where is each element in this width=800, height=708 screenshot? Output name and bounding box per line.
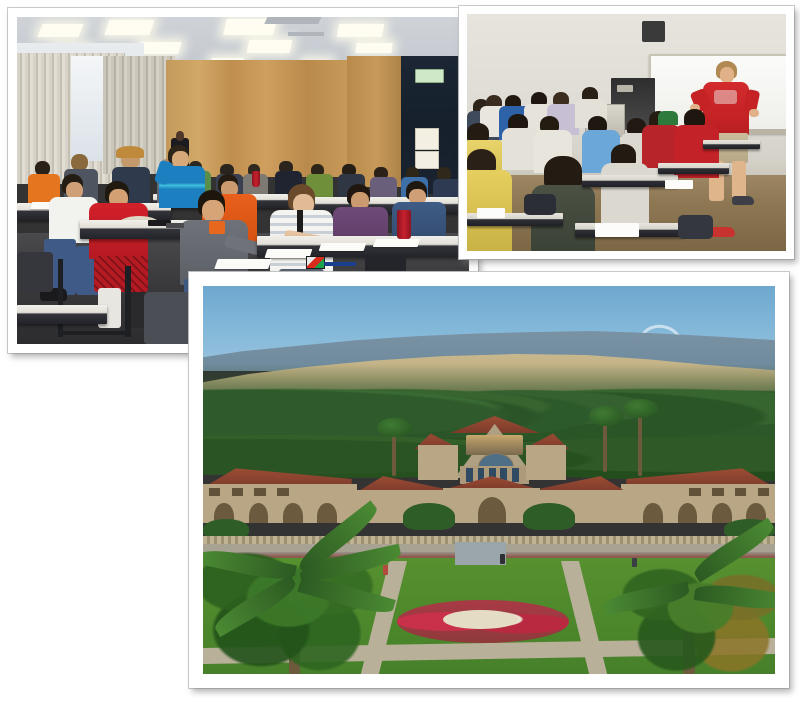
- reflecting-pool: [455, 542, 506, 565]
- photo-stanford-quad[interactable]: Stanford University Main Quad with Memor…: [189, 272, 789, 688]
- palm-trunk: [638, 414, 642, 476]
- flower-bed-centre: [443, 610, 517, 629]
- wing-window: [209, 488, 220, 497]
- notebook: [477, 208, 506, 217]
- ceiling-light: [37, 24, 83, 37]
- wing-window: [232, 488, 243, 497]
- wing-window: [758, 488, 769, 497]
- pedestrian: [500, 554, 505, 564]
- table: [17, 305, 107, 325]
- church-mosaic: [466, 435, 523, 454]
- standing-proctor-head: [176, 131, 184, 141]
- test-paper: [373, 239, 421, 247]
- teacher-hand: [749, 109, 759, 117]
- stanford-quad-scene: [203, 286, 775, 674]
- pedestrian: [383, 565, 388, 574]
- palm-crown: [589, 406, 623, 425]
- teacher-leg: [732, 161, 747, 199]
- student-head: [684, 109, 705, 127]
- exit-sign: [415, 69, 444, 82]
- wing-window: [712, 488, 723, 497]
- wall-poster: [415, 128, 440, 150]
- shrub: [523, 503, 574, 530]
- water-bottle: [397, 210, 411, 239]
- ceiling-beam: [264, 17, 321, 24]
- ceiling-beam: [288, 32, 324, 37]
- notebook: [665, 180, 694, 189]
- wall-control-panel: [617, 85, 633, 92]
- photo-collage: Classroom full of middle-school students…: [0, 0, 800, 708]
- teacher-shirt-logo: [714, 90, 736, 104]
- test-paper: [319, 243, 367, 251]
- arcade-arch: [712, 503, 731, 522]
- tablet-arm-desk: [703, 140, 760, 149]
- teacher-head: [720, 67, 735, 83]
- tablet-arm-desk: [658, 163, 728, 174]
- test-paper: [264, 249, 312, 258]
- wing-window: [735, 488, 746, 497]
- ceiling-light: [137, 42, 181, 54]
- palm-trunk: [603, 418, 607, 472]
- pedestrian: [632, 558, 637, 567]
- student-shorts: [94, 256, 148, 292]
- ceiling-light: [246, 40, 292, 53]
- backpack: [524, 194, 556, 215]
- wing-window: [254, 488, 265, 497]
- test-paper: [214, 259, 272, 269]
- student-head: [467, 149, 496, 173]
- church-window: [466, 468, 473, 482]
- rubiks-cube: [306, 256, 324, 270]
- chair-leg: [58, 259, 63, 337]
- chair-leg: [58, 331, 130, 336]
- ceiling-speaker-icon: [642, 21, 664, 42]
- lecture-scene: [467, 14, 786, 251]
- arcade-arch: [249, 503, 268, 522]
- main-archway: [478, 497, 507, 522]
- photo-stanford-quad-image: [203, 286, 775, 674]
- ceiling-light: [105, 20, 155, 35]
- water-bottle: [252, 171, 260, 187]
- wing-window: [277, 488, 288, 497]
- shrub: [403, 503, 454, 530]
- pencil-case: [166, 223, 184, 228]
- arcade-arch: [643, 503, 662, 522]
- wood-panel-wall: [166, 60, 347, 178]
- chair-leg: [125, 266, 130, 338]
- palm-crown: [623, 399, 657, 418]
- photo-teacher-lecture-image: [467, 14, 786, 251]
- arcade-arch: [283, 503, 302, 522]
- backpack: [17, 252, 53, 291]
- student-body: [601, 163, 649, 222]
- wall-poster: [415, 151, 440, 169]
- backpack: [678, 215, 713, 239]
- church-side-wing: [526, 445, 566, 480]
- pen: [324, 262, 356, 266]
- notebook: [595, 223, 640, 237]
- student-body: [658, 111, 677, 125]
- arcade-arch: [678, 503, 697, 522]
- ceiling-light: [355, 43, 393, 53]
- tablet-arm-desk: [582, 175, 678, 187]
- student-hair: [116, 146, 143, 157]
- student-collar: [209, 221, 225, 234]
- ceiling-light: [337, 24, 384, 37]
- church-side-wing: [418, 445, 458, 480]
- arcade-arch: [317, 503, 336, 522]
- wing-window: [689, 488, 700, 497]
- photo-teacher-lecture[interactable]: Instructor in a red t-shirt and khaki sh…: [459, 6, 794, 259]
- church-window: [512, 468, 519, 482]
- teacher-shoe: [732, 196, 754, 204]
- palm-crown: [377, 418, 411, 437]
